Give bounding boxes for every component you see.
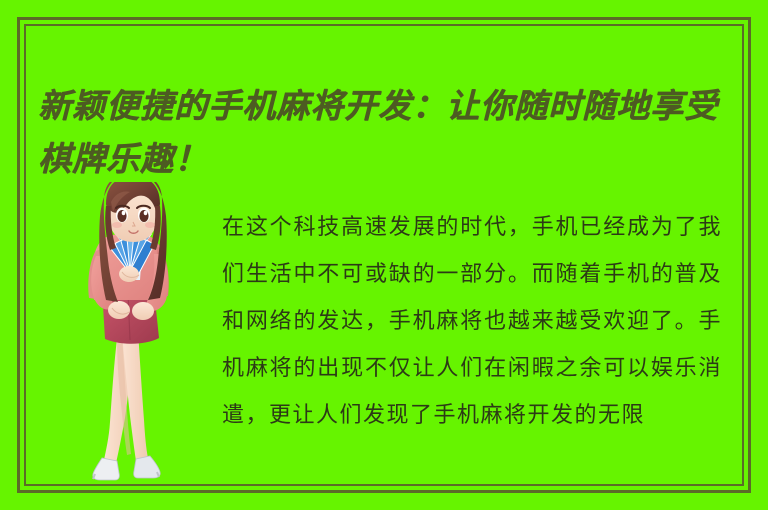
- figure-shoes: [93, 456, 160, 480]
- page-title: 新颖便捷的手机麻将开发：让你随时随地享受棋牌乐趣！: [38, 79, 738, 185]
- article-body: 在这个科技高速发展的时代，手机已经成为了我们生活中不可或缺的一部分。而随着手机的…: [222, 204, 722, 439]
- figure-legs: [104, 330, 148, 463]
- article-illustration: [62, 182, 212, 482]
- article-page: 新颖便捷的手机麻将开发：让你随时随地享受棋牌乐趣！: [0, 0, 768, 510]
